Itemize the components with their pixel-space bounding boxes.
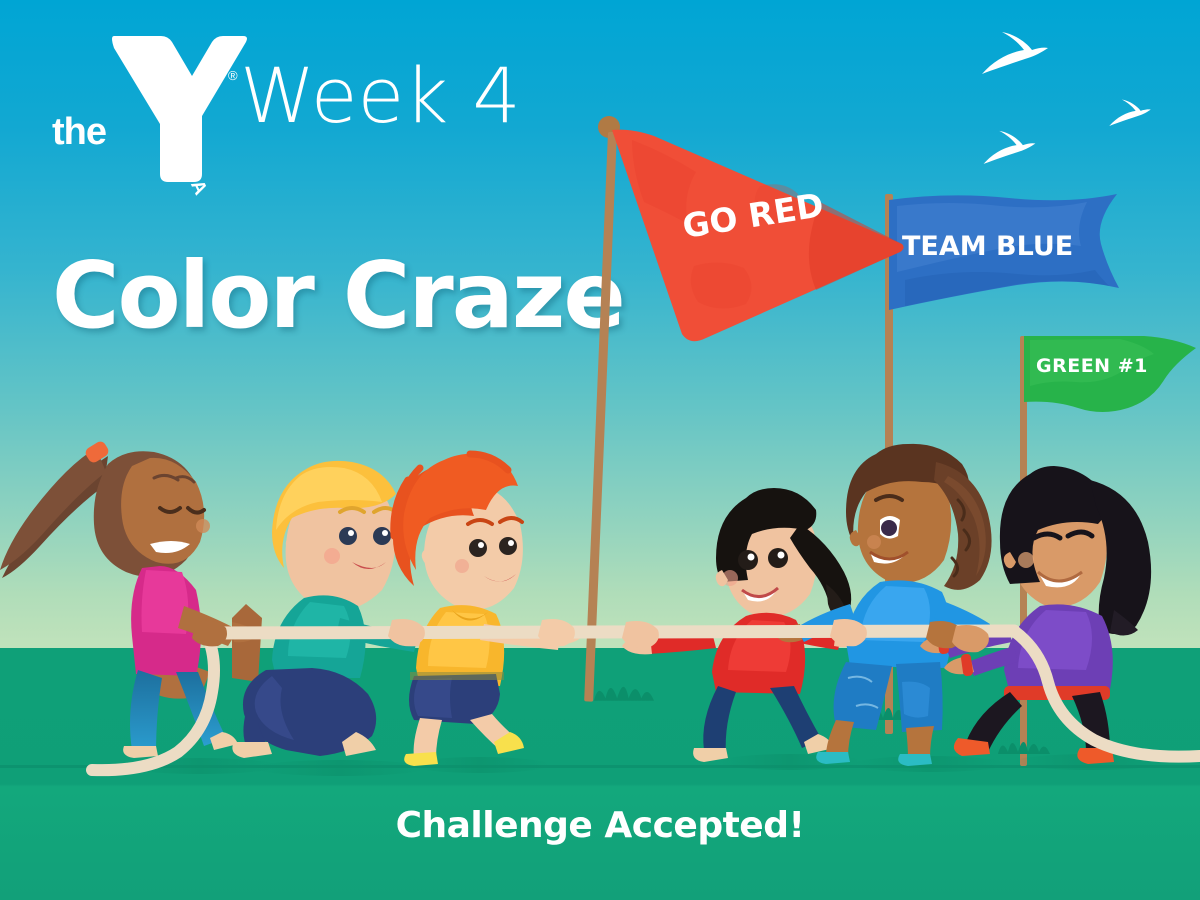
- flag-red-cloth: [610, 126, 910, 376]
- week-label: Week 4: [240, 58, 521, 134]
- poster-canvas: the YMCA ® Week 4 Color Craze GREEN #1 T…: [0, 0, 1200, 900]
- flag-blue-label: TEAM BLUE: [902, 231, 1073, 262]
- tagline: Challenge Accepted!: [0, 805, 1200, 846]
- page-title: Color Craze: [52, 250, 624, 342]
- logo-the-label: the: [52, 113, 106, 151]
- character-boy-redhead: [393, 454, 584, 766]
- ymca-logo: the YMCA ®: [48, 28, 248, 188]
- character-shadow: [254, 760, 426, 776]
- bird-icon: [1108, 98, 1152, 130]
- bird-icon: [980, 30, 1050, 80]
- tug-of-war-scene: [0, 420, 1200, 820]
- registered-trademark-icon: ®: [228, 68, 238, 83]
- tug-of-war-rope-straight: [206, 631, 1014, 633]
- bird-icon: [982, 128, 1037, 170]
